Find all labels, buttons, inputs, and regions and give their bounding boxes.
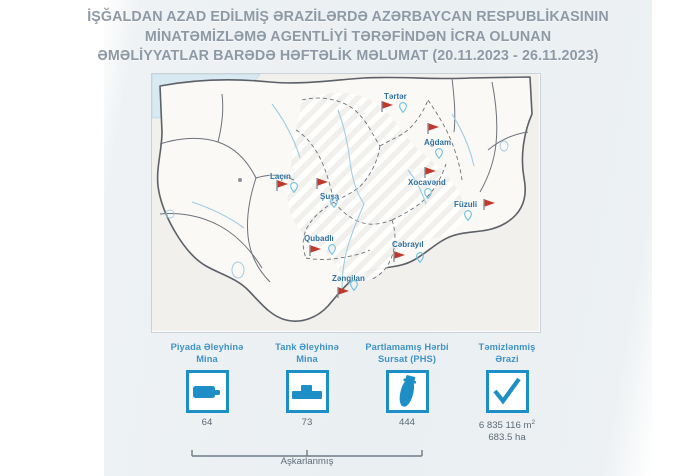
map-location-pin-icon [435,148,443,159]
legend-item-value: 444 [351,417,463,429]
map-flag-marker-icon [423,166,437,179]
map-location-pin-icon [416,252,424,263]
antipersonnel-mine-icon [192,382,222,402]
legend-item-value: 64 [151,417,263,429]
map-location-pin-icon [424,188,432,199]
legend-title-line-1: Təmizlənmiş [479,342,536,352]
legend-title-line-1: Partlamamış Hərbi [365,342,448,352]
map-flag-marker-icon [392,250,406,263]
map-location-pin-icon [399,102,407,113]
map-location-pin-icon [328,244,336,255]
legend-icon-box [186,370,229,413]
legend-value-hectares: 683.5 ha [488,432,525,443]
legend-item-unexploded-ordnance: Partlamamış Hərbi Sursat (PHS) 444 [351,342,463,429]
legend-item-title: Təmizlənmiş Ərazi [451,342,563,365]
legend-value-superscript: 2 [532,419,536,426]
legend-title-line-2: Mina [196,354,218,364]
legend-title-line-2: Ərazi [495,354,518,364]
legend-item-cleared-area: Təmizlənmiş Ərazi 6 835 116 m2 683.5 ha [451,342,563,443]
map-flag-marker-icon [380,100,394,113]
legend-icon-box [386,370,429,413]
legend-title-line-2: Sursat (PHS) [378,354,436,364]
legend-icon-box [286,370,329,413]
map-flag-marker-icon [426,122,440,135]
legend-item-antipersonnel-mine: Piyada Əleyhinə Mina 64 [151,342,263,429]
page-title: İŞĞALDAN AZAD EDİLMİŞ ƏRAZİLƏRDƏ AZƏRBAY… [28,8,668,67]
map-location-pin-icon [464,210,472,221]
legend-item-antitank-mine: Tank Əleyhinə Mina 73 [251,342,363,429]
legend-title-line-1: Tank Əleyhinə [275,342,339,352]
page-title-line-2: MİNATƏMİZLƏMƏ AGENTLİYİ TƏRƏFİNDƏN İCRA … [28,28,668,48]
map-location-pin-icon [350,280,358,291]
antitank-mine-icon [291,382,323,402]
map-flag-marker-icon [315,177,329,190]
legend-item-value: 73 [251,417,363,429]
checkmark-icon [492,378,522,406]
map-flag-marker-icon [308,244,322,257]
page-title-line-1: İŞĞALDAN AZAD EDİLMİŞ ƏRAZİLƏRDƏ AZƏRBAY… [28,8,668,28]
legend-item-value: 6 835 116 m2 683.5 ha [451,417,563,443]
unexploded-ordnance-icon [394,375,420,409]
legend-item-title: Partlamamış Hərbi Sursat (PHS) [351,342,463,365]
map-location-pin-icon [330,197,338,208]
map-flag-marker-icon [275,179,289,192]
legend: Piyada Əleyhinə Mina 64 Tank Əleyhinə Mi… [151,336,551,476]
map-flag-marker-icon [336,286,350,299]
map-flag-marker-icon [482,198,496,211]
page-title-line-3: ƏMƏLİYYATLAR BARƏDƏ HƏFTƏLİK MƏLUMAT (20… [28,47,668,67]
map-container: TərtərAğdamLaçınŞuşaXocavəndFüzuliQubadl… [151,73,541,333]
detected-bracket-label: Aşkarlanmış [191,456,423,467]
legend-title-line-1: Piyada Əleyhinə [171,342,244,352]
legend-item-title: Piyada Əleyhinə Mina [151,342,263,365]
map-location-pin-icon [290,182,298,193]
legend-item-title: Tank Əleyhinə Mina [251,342,363,365]
legend-icon-box [486,370,529,413]
infographic-page: İŞĞALDAN AZAD EDİLMİŞ ƏRAZİLƏRDƏ AZƏRBAY… [0,0,696,476]
legend-title-line-2: Mina [296,354,318,364]
legend-value-area: 6 835 116 m [479,420,532,431]
